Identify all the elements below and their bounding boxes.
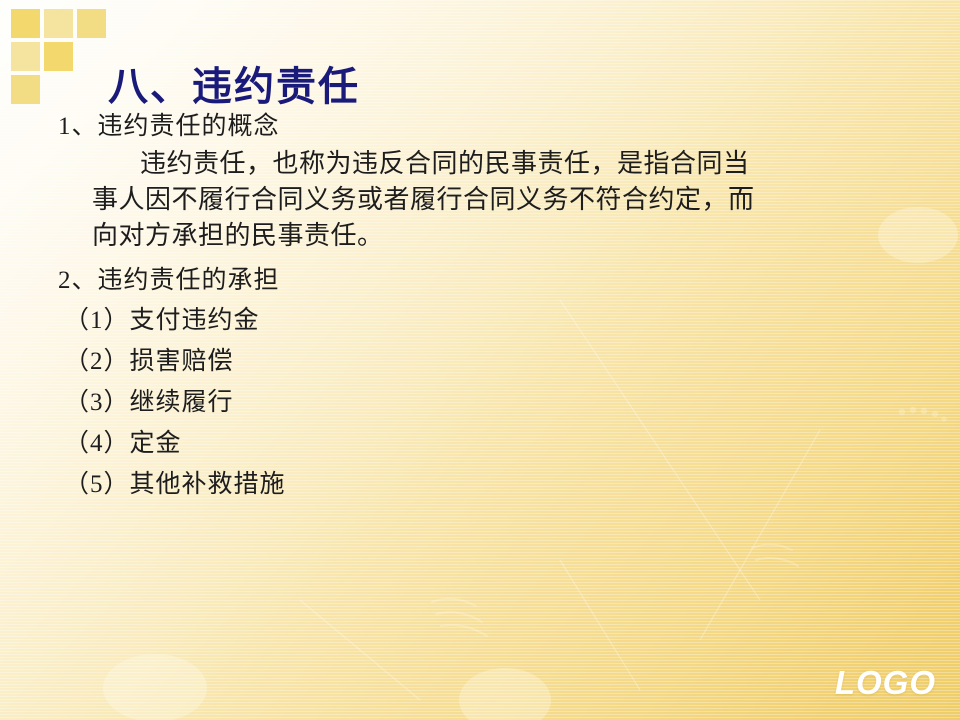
section-2-heading: 2、违约责任的承担 xyxy=(58,262,960,300)
section-2-item-3: （3）继续履行 xyxy=(64,382,960,423)
section-1-paragraph-line-3: 向对方承担的民事责任。 xyxy=(92,218,960,254)
page-title: 八、违约责任 xyxy=(108,54,360,112)
section-2-item-4: （4）定金 xyxy=(64,423,960,464)
mosaic-square-r1c1 xyxy=(11,9,40,38)
mosaic-square-r2c2 xyxy=(44,42,73,71)
logo-watermark: LOGO xyxy=(835,664,936,702)
mosaic-square-r2c1 xyxy=(11,42,40,71)
section-2-item-1: （1）支付违约金 xyxy=(64,300,960,341)
section-1-paragraph-line-1: 违约责任，也称为违反合同的民事责任，是指合同当 xyxy=(140,146,960,182)
section-1-paragraph-line-2: 事人因不履行合同义务或者履行合同义务不符合约定，而 xyxy=(92,182,960,218)
section-2-item-5: （5）其他补救措施 xyxy=(64,464,960,505)
decorative-square-mosaic xyxy=(11,9,111,109)
section-1-heading: 1、违约责任的概念 xyxy=(58,108,960,146)
mosaic-square-r1c2 xyxy=(44,9,73,38)
slide-body: 1、违约责任的概念 违约责任，也称为违反合同的民事责任，是指合同当 事人因不履行… xyxy=(0,108,960,505)
presentation-slide: 八、违约责任 1、违约责任的概念 违约责任，也称为违反合同的民事责任，是指合同当… xyxy=(0,0,960,720)
section-2-item-2: （2）损害赔偿 xyxy=(64,341,960,382)
mosaic-square-r1c3 xyxy=(77,9,106,38)
mosaic-square-r3c1 xyxy=(11,75,40,104)
